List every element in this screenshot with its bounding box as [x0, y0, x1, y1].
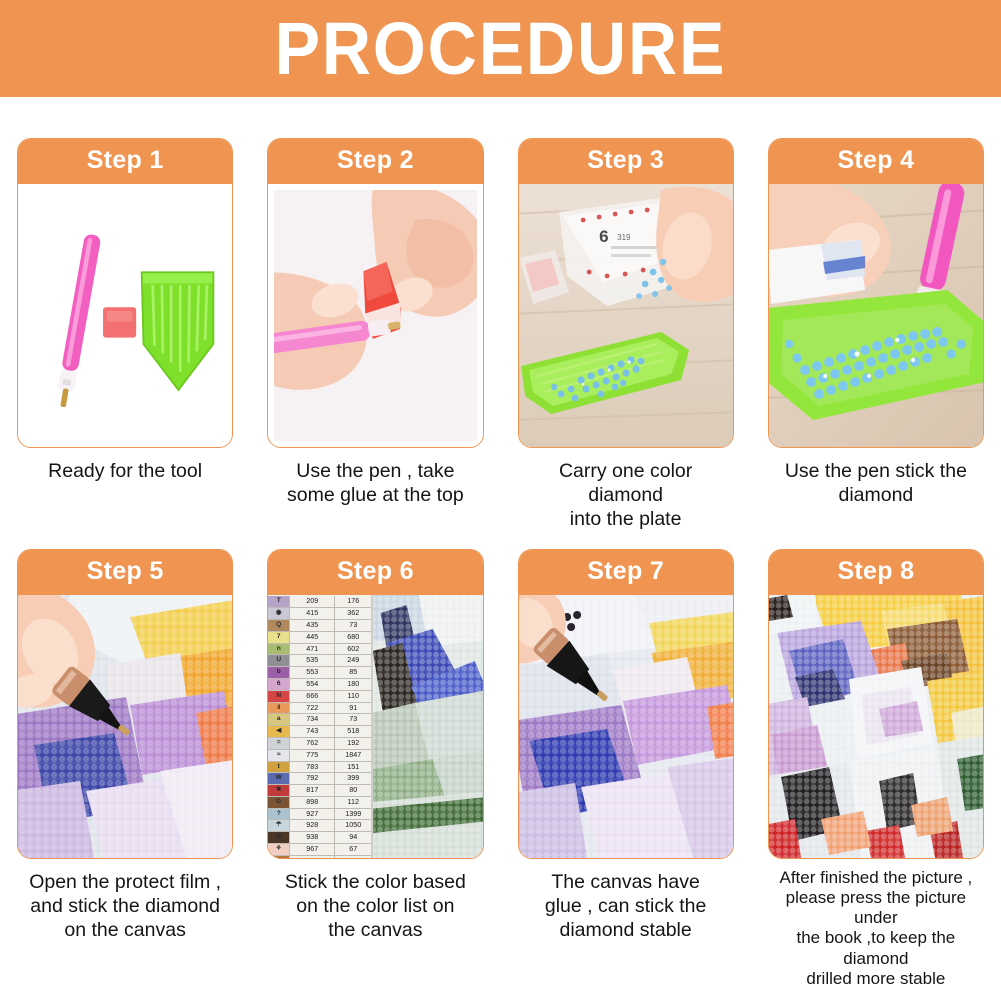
caption-line: Ready for the tool	[19, 460, 231, 484]
color-chart-code: 928	[290, 820, 335, 831]
color-chart-symbol: ‖	[268, 703, 290, 714]
color-chart-symbol: ☂	[268, 820, 290, 831]
color-chart-symbol: =	[268, 738, 290, 749]
step-6-header: Step 6	[268, 550, 482, 595]
svg-text:6: 6	[599, 227, 608, 246]
step-6-canvas-photo	[373, 595, 482, 858]
color-chart-code: 938	[290, 832, 335, 843]
caption-line: some glue at the top	[269, 484, 481, 508]
color-code-table: T209176◉415362Q435737445680n471602U53524…	[268, 595, 373, 858]
color-chart-count: 80	[335, 785, 371, 796]
step-4-caption: Use the pen stick the diamond	[768, 460, 984, 508]
caption-line: After finished the picture ,	[768, 868, 984, 888]
color-chart-code: 734	[290, 714, 335, 725]
step-card-5[interactable]: Step 5	[17, 549, 233, 859]
step-2-image	[268, 184, 482, 447]
color-chart-count: 680	[335, 632, 371, 643]
color-chart-code: 817	[290, 785, 335, 796]
page-title: PROCEDURE	[275, 12, 727, 86]
step-card-1[interactable]: Step 1	[17, 138, 233, 448]
color-chart-code: 666	[290, 691, 335, 702]
caption-line: The canvas have	[520, 871, 732, 895]
color-chart-code: 445	[290, 632, 335, 643]
color-chart-count: 73	[335, 620, 371, 631]
color-chart-code: 743	[290, 726, 335, 737]
color-chart-row: ‖72291	[268, 703, 371, 715]
caption-line: Stick the color based	[269, 871, 481, 895]
color-chart-symbol: G	[268, 797, 290, 808]
step-8-header: Step 8	[769, 550, 983, 595]
step-cell-1: Step 1	[0, 97, 250, 531]
step-6-image: T209176◉415362Q435737445680n471602U53524…	[268, 595, 482, 858]
step-8-image	[769, 595, 983, 858]
color-chart-row: ⚘96767	[268, 844, 371, 856]
caption-line: Use the pen stick the	[770, 460, 982, 484]
color-chart-count: 1050	[335, 820, 371, 831]
steps-grid: Step 1	[0, 97, 1001, 989]
color-chart-row: N666110	[268, 691, 371, 703]
color-chart-code: 762	[290, 738, 335, 749]
caption-line: and stick the diamond	[19, 895, 231, 919]
step-7-image	[519, 595, 733, 858]
caption-line: diamond	[770, 484, 982, 508]
caption-line: the book ,to keep the diamond	[768, 928, 984, 968]
color-chart-symbol: T	[268, 596, 290, 607]
color-chart-code: 792	[290, 773, 335, 784]
color-chart-count: 151	[335, 762, 371, 773]
step-5-header: Step 5	[18, 550, 232, 595]
step-2-header: Step 2	[268, 139, 482, 184]
caption-line: into the plate	[520, 508, 732, 532]
color-chart-count: 192	[335, 738, 371, 749]
color-chart-symbol: Ж	[268, 832, 290, 843]
color-chart-count: 249	[335, 655, 371, 666]
color-chart-row: ◀743518	[268, 726, 371, 738]
color-chart-count: 91	[335, 703, 371, 714]
color-chart-code: 415	[290, 608, 335, 619]
color-chart-row: ☂9281050	[268, 820, 371, 832]
color-chart-row: C975109	[268, 856, 371, 858]
color-chart-count: 176	[335, 596, 371, 607]
color-chart-symbol: ⚘	[268, 844, 290, 855]
color-chart-symbol: 7	[268, 632, 290, 643]
color-chart-code: 535	[290, 655, 335, 666]
color-chart-row: b55385	[268, 667, 371, 679]
color-chart-row: a73473	[268, 714, 371, 726]
color-chart-count: 399	[335, 773, 371, 784]
color-chart-count: 73	[335, 714, 371, 725]
caption-line: Use the pen , take	[269, 460, 481, 484]
color-chart-symbol: n	[268, 644, 290, 655]
step-2-caption: Use the pen , take some glue at the top	[267, 460, 483, 508]
step-card-2[interactable]: Step 2	[267, 138, 483, 448]
color-chart-code: 435	[290, 620, 335, 631]
color-chart-symbol: U	[268, 655, 290, 666]
step-3-header: Step 3	[519, 139, 733, 184]
step-card-8[interactable]: Step 8	[768, 549, 984, 859]
step-7-caption: The canvas have glue , can stick the dia…	[518, 871, 734, 942]
step-cell-3: Step 3	[501, 97, 751, 531]
svg-text:319: 319	[617, 233, 631, 242]
step-card-3[interactable]: Step 3	[518, 138, 734, 448]
page-header-banner: PROCEDURE	[0, 0, 1001, 97]
color-chart-count: 180	[335, 679, 371, 690]
color-chart-symbol: ◀	[268, 726, 290, 737]
color-chart-row: 7445680	[268, 632, 371, 644]
step-1-caption: Ready for the tool	[17, 460, 233, 484]
caption-line: the canvas	[269, 919, 481, 943]
step-card-4[interactable]: Step 4	[768, 138, 984, 448]
caption-line: diamond stable	[520, 919, 732, 943]
color-chart-row: ◉415362	[268, 608, 371, 620]
step-cell-8: Step 8	[751, 531, 1001, 988]
step-6-caption: Stick the color based on the color list …	[267, 871, 483, 942]
color-chart-symbol: t	[268, 762, 290, 773]
color-chart-count: 112	[335, 797, 371, 808]
color-chart-count: 602	[335, 644, 371, 655]
step-cell-6: Step 6 T209176◉415362Q435737445680n47160…	[250, 531, 500, 988]
color-chart-count: 1847	[335, 750, 371, 761]
caption-line: please press the picture under	[768, 888, 984, 928]
color-chart-symbol: N	[268, 691, 290, 702]
step-cell-5: Step 5	[0, 531, 250, 988]
color-chart-code: 783	[290, 762, 335, 773]
caption-line: glue , can stick the	[520, 895, 732, 919]
color-chart-symbol: a	[268, 714, 290, 725]
color-chart-symbol: 6	[268, 679, 290, 690]
step-5-image	[18, 595, 232, 858]
step-4-image	[769, 184, 983, 447]
color-chart-row: 6554180	[268, 679, 371, 691]
color-chart-count: 67	[335, 844, 371, 855]
color-chart-symbol: ?	[268, 809, 290, 820]
step-cell-4: Step 4	[751, 97, 1001, 531]
color-chart-row: ≈7751847	[268, 750, 371, 762]
step-1-image	[18, 184, 232, 447]
color-chart-row: t783151	[268, 762, 371, 774]
color-chart-row: ✖81780	[268, 785, 371, 797]
step-3-image: 6 319	[519, 184, 733, 447]
caption-line: Carry one color diamond	[520, 460, 732, 508]
color-chart-count: 518	[335, 726, 371, 737]
color-chart-symbol: Q	[268, 620, 290, 631]
step-cell-7: Step 7	[501, 531, 751, 988]
caption-line: on the color list on	[269, 895, 481, 919]
color-chart-count: 1399	[335, 809, 371, 820]
color-chart-count: 94	[335, 832, 371, 843]
color-chart-row: W792399	[268, 773, 371, 785]
color-chart-symbol: ✖	[268, 785, 290, 796]
step-cell-2: Step 2	[250, 97, 500, 531]
caption-line: on the canvas	[19, 919, 231, 943]
color-chart-code: 975	[290, 856, 335, 858]
color-chart-row: G898112	[268, 797, 371, 809]
step-8-caption: After finished the picture , please pres…	[768, 868, 984, 988]
color-chart-code: 209	[290, 596, 335, 607]
color-chart-area: T209176◉415362Q435737445680n471602U53524…	[268, 595, 482, 858]
color-chart-count: 362	[335, 608, 371, 619]
color-chart-symbol: W	[268, 773, 290, 784]
steps-row-top: Step 1	[0, 97, 1001, 531]
color-chart-symbol: ≈	[268, 750, 290, 761]
color-chart-code: 927	[290, 809, 335, 820]
color-chart-code: 553	[290, 667, 335, 678]
color-chart-row: T209176	[268, 596, 371, 608]
caption-line: Open the protect film ,	[19, 871, 231, 895]
color-chart-symbol: ◉	[268, 608, 290, 619]
color-chart-code: 967	[290, 844, 335, 855]
step-1-header: Step 1	[18, 139, 232, 184]
step-card-6[interactable]: Step 6 T209176◉415362Q435737445680n47160…	[267, 549, 483, 859]
color-chart-code: 471	[290, 644, 335, 655]
steps-row-bottom: Step 5	[0, 531, 1001, 988]
color-chart-count: 110	[335, 691, 371, 702]
color-chart-code: 898	[290, 797, 335, 808]
color-chart-row: n471602	[268, 644, 371, 656]
color-chart-symbol: C	[268, 856, 290, 858]
color-chart-code: 554	[290, 679, 335, 690]
step-5-caption: Open the protect film , and stick the di…	[17, 871, 233, 942]
step-3-caption: Carry one color diamond into the plate	[518, 460, 734, 531]
color-chart-code: 722	[290, 703, 335, 714]
color-chart-row: =762192	[268, 738, 371, 750]
color-chart-count: 85	[335, 667, 371, 678]
caption-line: drilled more stable	[768, 969, 984, 989]
step-7-header: Step 7	[519, 550, 733, 595]
step-card-7[interactable]: Step 7	[518, 549, 734, 859]
color-chart-row: Ж93894	[268, 832, 371, 844]
color-chart-row: U535249	[268, 655, 371, 667]
color-chart-row: ?9271399	[268, 809, 371, 821]
color-chart-count: 109	[335, 856, 371, 858]
color-chart-symbol: b	[268, 667, 290, 678]
color-chart-code: 775	[290, 750, 335, 761]
step-4-header: Step 4	[769, 139, 983, 184]
color-chart-row: Q43573	[268, 620, 371, 632]
